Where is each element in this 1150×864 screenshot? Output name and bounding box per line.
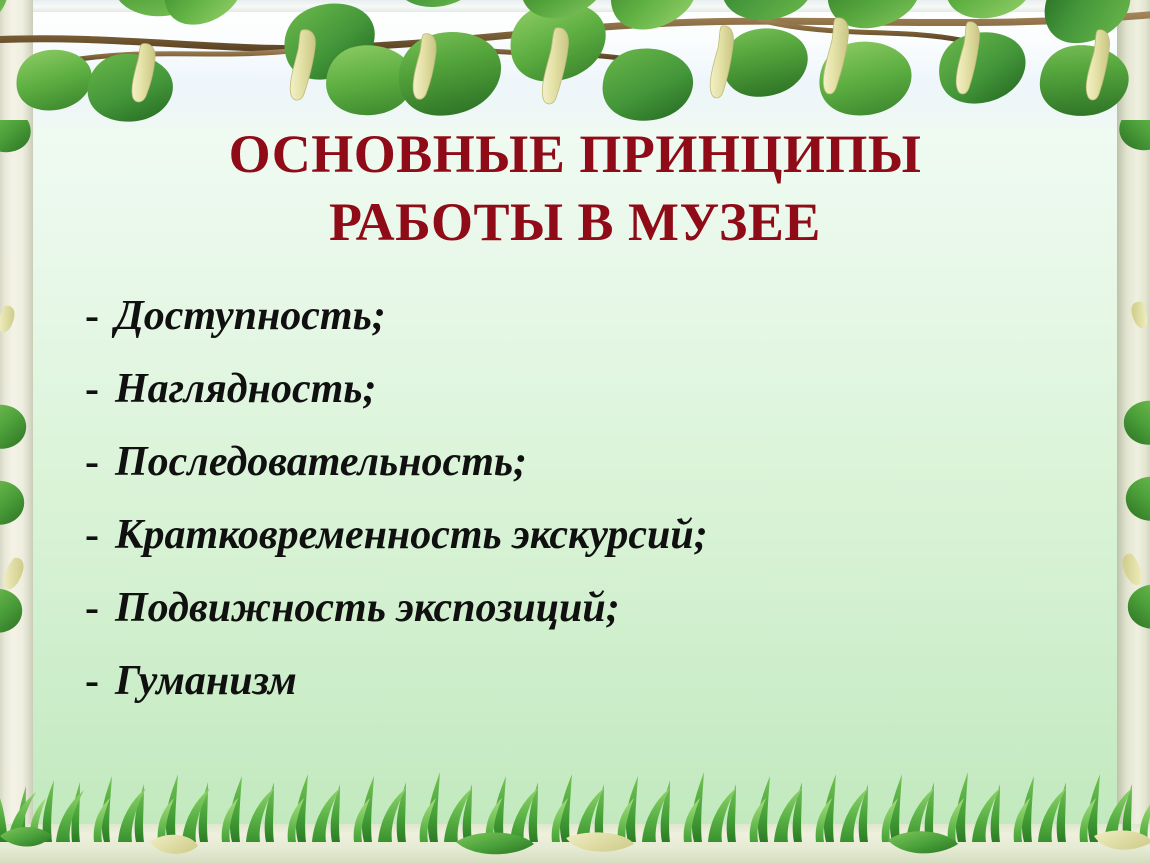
catkin-icon [1094,830,1150,849]
leaf-icon [888,831,958,853]
leaf-icon [1119,120,1150,150]
leaf-icon [1128,585,1150,629]
list-item: -Кратковременность экскурсий; [85,499,1085,572]
leaf-icon [0,405,26,449]
catkin-icon [4,558,24,590]
list-item-label: Доступность; [115,293,386,339]
bullet-marker: - [85,572,115,645]
leaf-icon [456,832,534,854]
list-item-label: Наглядность; [115,366,376,412]
catkin-icon [150,835,198,854]
catkin-icon [1131,302,1147,329]
bullet-marker: - [85,426,115,499]
leaf-icon [0,120,31,152]
leaf-icon [0,589,22,633]
principles-list: -Доступность; -Наглядность; -Последовате… [85,280,1085,718]
bullet-marker: - [85,645,115,718]
bullet-marker: - [85,353,115,426]
bullet-marker: - [85,499,115,572]
list-item: -Доступность; [85,280,1085,353]
slide-text-layer: ОСНОВНЫЕ ПРИНЦИПЫ РАБОТЫ В МУЗЕЕ -Доступ… [33,8,1117,828]
list-item-label: Кратковременность экскурсий; [115,512,708,558]
bullet-marker: - [85,280,115,353]
catkin-icon [566,832,634,851]
catkin-icon [1122,554,1142,586]
leaf-icon [0,0,19,43]
list-item-label: Гуманизм [115,658,297,704]
list-item: -Гуманизм [85,645,1085,718]
list-item: -Наглядность; [85,353,1085,426]
leaf-icon [1124,401,1150,445]
slide-canvas: ОСНОВНЫЕ ПРИНЦИПЫ РАБОТЫ В МУЗЕЕ -Доступ… [0,0,1150,864]
leaf-icon [0,481,24,525]
catkin-icon [0,306,15,333]
slide-title: ОСНОВНЫЕ ПРИНЦИПЫ РАБОТЫ В МУЗЕЕ [33,120,1117,256]
list-item: -Подвижность экспозиций; [85,572,1085,645]
frame-right-edge [1117,0,1150,864]
frame-left-edge [0,0,33,864]
leaf-icon [1126,477,1150,521]
list-item-label: Подвижность экспозиций; [115,585,620,631]
list-item: -Последовательность; [85,426,1085,499]
list-item-label: Последовательность; [115,439,527,485]
frame-bottom-edge [0,824,1150,864]
leaf-icon [0,827,52,847]
